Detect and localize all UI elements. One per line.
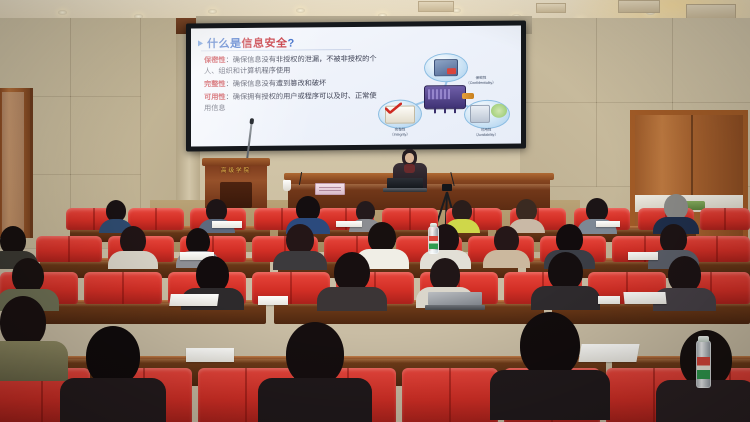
diagram-central-hub	[424, 85, 466, 109]
water-bottle	[696, 340, 711, 388]
name-placard	[315, 183, 345, 195]
diagram-node-confidentiality	[424, 53, 468, 82]
slide-title-part3: ?	[288, 38, 295, 50]
data-cluster-icon	[491, 104, 507, 118]
seat	[700, 208, 750, 230]
projection-screen-frame: 什么是信息安全? 保密性：确保信息没有非授权的泄漏，不被非授权的个人、组织和计算…	[186, 21, 526, 152]
bullet-text: ：确保信息没有非授权的泄漏，不被非授权的个人、组织和计算机程序使用	[204, 54, 377, 76]
paper-sheet	[628, 252, 658, 260]
bullet-key: 保密性	[204, 55, 226, 64]
camera-icon	[442, 184, 452, 191]
presentation-slide: 什么是信息安全? 保密性：确保信息没有非授权的泄漏，不被非授权的个人、组织和计算…	[191, 26, 521, 147]
lecture-hall-photo: 什么是信息安全? 保密性：确保信息没有非授权的泄漏，不被非授权的个人、组织和计算…	[0, 0, 750, 422]
diagram-label-availability: 可用性（Availability）	[459, 128, 513, 138]
diagram-node-integrity	[378, 99, 422, 128]
slide-bullet-arrow-icon	[198, 40, 203, 46]
ceiling-vent	[618, 0, 660, 13]
paper-sheet	[578, 344, 639, 362]
slide-bullet-row: 完整性：确保信息没有遭到篡改和破坏	[204, 77, 379, 90]
diagram-label-integrity: 完整性（Integrity）	[373, 127, 427, 137]
paper-sheet	[598, 296, 620, 304]
paper-sheet	[623, 292, 666, 304]
paper-sheet	[169, 294, 219, 306]
seat	[84, 272, 162, 304]
presenter-laptop	[383, 178, 427, 192]
bullet-text: ：确保拥有授权的用户或程序可以及时、正常使用信息	[204, 91, 377, 113]
document-icon	[385, 105, 415, 123]
slide-title-part2: 信息安全	[242, 38, 288, 50]
bullet-key: 完整性	[204, 79, 226, 88]
paper-sheet	[258, 296, 288, 305]
paper-sheet	[212, 221, 242, 228]
slide-body: 保密性：确保信息没有非授权的泄漏，不被非授权的个人、组织和计算机程序使用 完整性…	[204, 53, 379, 116]
bullet-key: 可用性	[204, 92, 226, 101]
ceiling-vent	[418, 1, 454, 12]
paper-cup	[283, 180, 291, 191]
slide-title-part1: 什么是	[207, 38, 242, 50]
bullet-text: ：确保信息没有遭到篡改和破坏	[226, 78, 327, 88]
downlight-icon	[296, 8, 305, 13]
downlight-icon	[58, 10, 67, 15]
paper-sheet	[336, 221, 362, 227]
seat	[402, 368, 498, 422]
paper-sheet	[596, 221, 620, 227]
ceiling-vent	[536, 3, 566, 13]
slide-title: 什么是信息安全?	[207, 35, 295, 52]
slide-bullet-row: 可用性：确保拥有授权的用户或程序可以及时、正常使用信息	[204, 90, 379, 114]
monitor-icon	[434, 59, 458, 76]
security-triad-diagram: 保密性（Confidentiality） 完整性（Integrity） 可用性（…	[376, 52, 516, 143]
paper-sheet	[186, 348, 234, 362]
seat	[36, 236, 102, 262]
venue-sign-text: 高级学院	[205, 166, 267, 174]
slide-bullet-row: 保密性：确保信息没有非授权的泄漏，不被非授权的个人、组织和计算机程序使用	[204, 53, 379, 77]
printer-icon	[470, 105, 490, 123]
slide-title-rule	[201, 49, 351, 51]
attendee-laptop	[428, 292, 482, 310]
diagram-label-confidentiality: 保密性（Confidentiality）	[454, 76, 508, 86]
diagram-node-availability	[464, 100, 510, 129]
side-door-left[interactable]	[0, 88, 33, 238]
checkmark-icon	[385, 103, 402, 114]
downlight-icon	[208, 9, 217, 14]
water-bottle	[428, 226, 439, 254]
